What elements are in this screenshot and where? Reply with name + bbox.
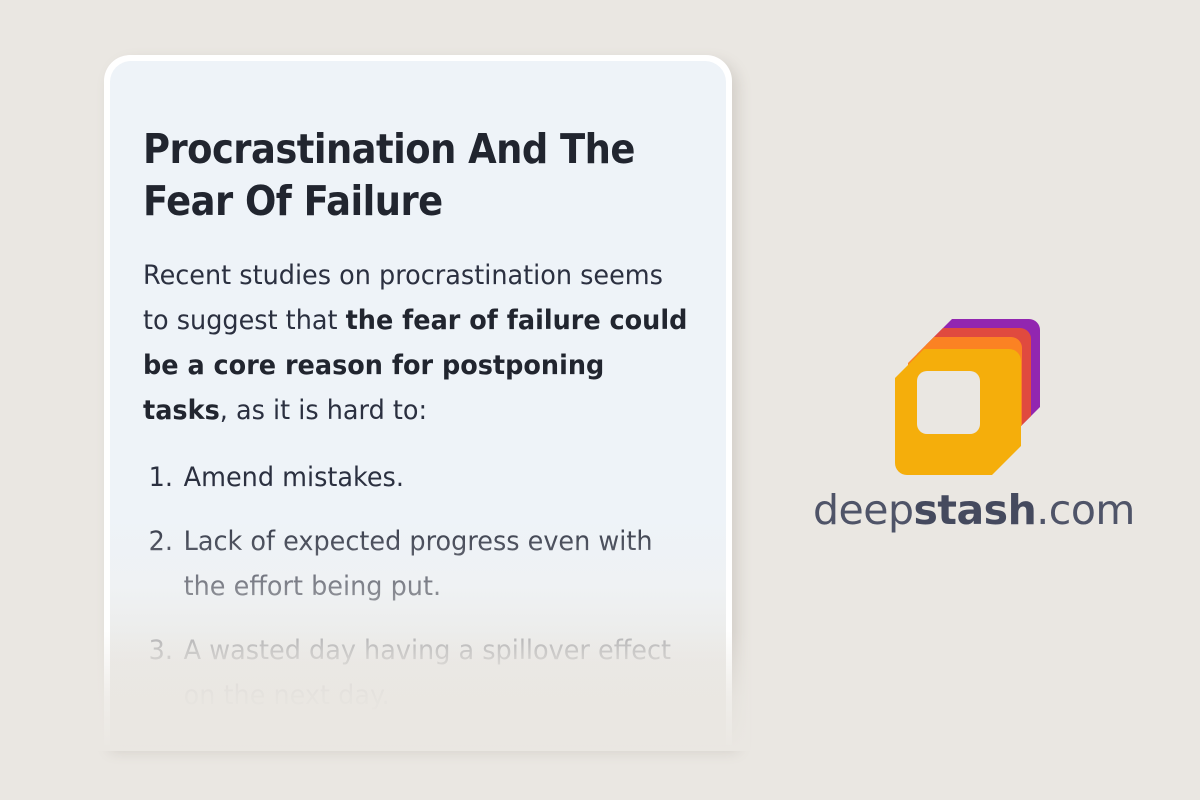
list-item: 3.A wasted day having a spillover effect… xyxy=(143,628,696,718)
brand-lockup: deepstash.com xyxy=(800,300,1140,550)
insight-card[interactable]: Procrastination And The Fear Of Failure … xyxy=(104,55,732,745)
deepstash-stacked-cubes-icon xyxy=(895,308,1040,468)
list-item: 2.Lack of expected progress even with th… xyxy=(143,519,696,609)
list-item-label: Amend mistakes. xyxy=(184,462,404,493)
wordmark-bold: stash xyxy=(914,486,1037,534)
page-title: Procrastination And The Fear Of Failure xyxy=(143,61,692,227)
page-canvas: Procrastination And The Fear Of Failure … xyxy=(0,0,1200,800)
list-item-number: 1. xyxy=(149,455,181,500)
list-item-number: 3. xyxy=(149,628,181,673)
card-content: Procrastination And The Fear Of Failure … xyxy=(110,61,726,737)
paragraph-tail-text: , as it is hard to: xyxy=(220,395,427,426)
list-item: 1.Amend mistakes. xyxy=(143,455,696,500)
list-item-label: A wasted day having a spillover effect o… xyxy=(184,635,671,711)
list-item-label: Lack of expected progress even with the … xyxy=(184,526,653,602)
card-surface: Procrastination And The Fear Of Failure … xyxy=(110,61,726,745)
list-item-number: 2. xyxy=(149,519,181,564)
card-paragraph: Recent studies on procrastination seems … xyxy=(143,227,696,433)
brand-wordmark: deepstash.com xyxy=(813,486,1133,534)
logo-inner-cutout-icon xyxy=(917,371,980,434)
wordmark-prefix: deep xyxy=(813,486,914,534)
wordmark-suffix: .com xyxy=(1036,486,1135,534)
reasons-list: 1.Amend mistakes. 2.Lack of expected pro… xyxy=(143,433,696,718)
